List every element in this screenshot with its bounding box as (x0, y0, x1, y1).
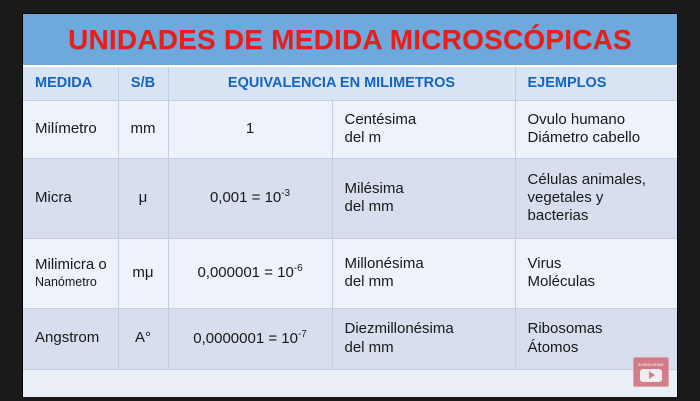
value-exponent: -7 (298, 329, 307, 340)
ejemplo-line-1: Ovulo humano (528, 111, 626, 128)
cell-value: 0,001 = 10-3 (168, 158, 332, 238)
table-header-row: MEDIDA S/B EQUIVALENCIA EN MILIMETROS EJ… (23, 67, 677, 100)
ejemplo-line-1: Células animales, (528, 171, 646, 188)
value-mantissa: 0,001 = 10 (210, 189, 281, 206)
cell-symbol: μ (118, 158, 168, 238)
value-mantissa: 0,0000001 = 10 (193, 330, 298, 347)
cell-value: 1 (168, 100, 332, 158)
cell-symbol: mμ (118, 238, 168, 308)
value-mantissa: 1 (246, 120, 254, 137)
cell-fraction: Millonésima del mm (332, 238, 515, 308)
cell-value: 0,000001 = 10-6 (168, 238, 332, 308)
column-header-ejemplos: EJEMPLOS (515, 67, 677, 100)
screen-root: UNIDADES DE MEDIDA MICROSCÓPICAS MEDIDA … (0, 0, 700, 401)
fraction-line-1: Milésima (345, 180, 404, 197)
youtube-subscribe-watermark[interactable]: SUBSCRIBE (633, 357, 669, 387)
table-body: Milímetro mm 1 Centésima del m Ovulo hum… (23, 100, 677, 369)
ejemplo-line-1: Virus (528, 255, 562, 272)
cell-medida: Milimicra o Nanómetro (23, 238, 118, 308)
cell-medida: Angstrom (23, 308, 118, 369)
ejemplo-line-3: bacterias (528, 207, 589, 224)
cell-ejemplos: Virus Moléculas (515, 238, 677, 308)
cell-fraction: Milésima del mm (332, 158, 515, 238)
title-banner: UNIDADES DE MEDIDA MICROSCÓPICAS (23, 14, 677, 67)
cell-medida: Milímetro (23, 100, 118, 158)
value-mantissa: 0,000001 = 10 (197, 264, 293, 281)
cell-symbol: mm (118, 100, 168, 158)
column-header-medida: MEDIDA (23, 67, 118, 100)
fraction-line-2: del m (345, 129, 382, 146)
table-row: Milimicra o Nanómetro mμ 0,000001 = 10-6… (23, 238, 677, 308)
ejemplo-line-2: vegetales y (528, 189, 604, 206)
cell-symbol: A° (118, 308, 168, 369)
column-header-sb: S/B (118, 67, 168, 100)
ejemplo-line-2: Moléculas (528, 273, 596, 290)
column-header-equivalencia: EQUIVALENCIA EN MILIMETROS (168, 67, 515, 100)
medida-name: Angstrom (35, 329, 99, 346)
medida-subname: Nanómetro (35, 275, 110, 290)
table-row: Angstrom A° 0,0000001 = 10-7 Diezmilloné… (23, 308, 677, 369)
page-title: UNIDADES DE MEDIDA MICROSCÓPICAS (68, 24, 632, 56)
fraction-line-2: del mm (345, 273, 394, 290)
medida-name: Micra (35, 189, 72, 206)
cell-medida: Micra (23, 158, 118, 238)
cell-value: 0,0000001 = 10-7 (168, 308, 332, 369)
table-row: Micra μ 0,001 = 10-3 Milésima del mm Cél… (23, 158, 677, 238)
cell-ejemplos: Células animales, vegetales y bacterias (515, 158, 677, 238)
subscribe-label: SUBSCRIBE (638, 363, 664, 367)
fraction-line-2: del mm (345, 198, 394, 215)
medida-name: Milímetro (35, 120, 97, 137)
cell-fraction: Diezmillonésima del mm (332, 308, 515, 369)
slide-content: UNIDADES DE MEDIDA MICROSCÓPICAS MEDIDA … (23, 14, 677, 397)
fraction-line-1: Diezmillonésima (345, 320, 454, 337)
ejemplo-line-2: Diámetro cabello (528, 129, 641, 146)
value-exponent: -3 (281, 188, 290, 199)
medida-name: Milimicra o (35, 256, 107, 273)
units-table: MEDIDA S/B EQUIVALENCIA EN MILIMETROS EJ… (23, 67, 677, 370)
fraction-line-1: Millonésima (345, 255, 424, 272)
youtube-play-icon (640, 369, 662, 382)
cell-fraction: Centésima del m (332, 100, 515, 158)
table-header: MEDIDA S/B EQUIVALENCIA EN MILIMETROS EJ… (23, 67, 677, 100)
ejemplo-line-2: Átomos (528, 339, 579, 356)
fraction-line-2: del mm (345, 339, 394, 356)
table-row: Milímetro mm 1 Centésima del m Ovulo hum… (23, 100, 677, 158)
cell-ejemplos: Ovulo humano Diámetro cabello (515, 100, 677, 158)
fraction-line-1: Centésima (345, 111, 417, 128)
play-triangle-icon (649, 371, 655, 379)
value-exponent: -6 (294, 263, 303, 274)
ejemplo-line-1: Ribosomas (528, 320, 603, 337)
